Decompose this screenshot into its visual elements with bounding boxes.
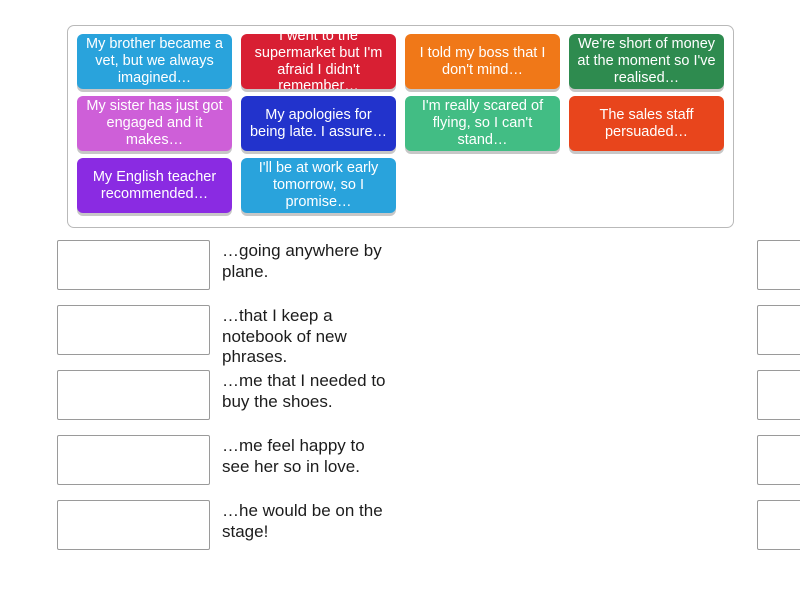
draggable-tile[interactable]: My brother became a vet, but we always i… (77, 34, 232, 89)
answer-row: …me feel happy to see her so in love. (57, 435, 388, 485)
tile-label: My brother became a vet, but we always i… (82, 36, 227, 87)
drop-zone[interactable] (757, 435, 800, 485)
drop-zone[interactable] (57, 305, 210, 355)
draggable-tile[interactable]: I'm really scared of flying, so I can't … (405, 96, 560, 151)
drop-zone[interactable] (757, 370, 800, 420)
drop-zone[interactable] (57, 500, 210, 550)
drop-zone[interactable] (57, 370, 210, 420)
draggable-tile[interactable]: The sales staff persuaded… (569, 96, 724, 151)
drop-zone[interactable] (57, 240, 210, 290)
answer-row: …me that I needed to buy the shoes. (57, 370, 388, 420)
tile-tray: My brother became a vet, but we always i… (67, 25, 734, 228)
tile-label: My English teacher recommended… (82, 169, 227, 203)
drop-zone[interactable] (757, 305, 800, 355)
answer-row: …going anywhere by plane. (57, 240, 388, 290)
draggable-tile[interactable]: My English teacher recommended… (77, 158, 232, 213)
tile-label: We're short of money at the moment so I'… (574, 36, 719, 87)
draggable-tile[interactable]: We're short of money at the moment so I'… (569, 34, 724, 89)
tile-label: My apologies for being late. I assure… (246, 107, 391, 141)
draggable-tile[interactable]: My sister has just got engaged and it ma… (77, 96, 232, 151)
tile-label: I went to the supermarket but I'm afraid… (246, 34, 391, 89)
answer-column-left: …going anywhere by plane. …that I keep a… (0, 240, 400, 585)
answer-area: …going anywhere by plane. …that I keep a… (0, 240, 800, 585)
draggable-tile[interactable]: I'll be at work early tomorrow, so I pro… (241, 158, 396, 213)
tile-label: My sister has just got engaged and it ma… (82, 98, 227, 149)
tile-label: I'm really scared of flying, so I can't … (410, 98, 555, 149)
draggable-tile[interactable]: I told my boss that I don't mind… (405, 34, 560, 89)
tile-label: I'll be at work early tomorrow, so I pro… (246, 160, 391, 211)
tile-label: I told my boss that I don't mind… (410, 45, 555, 79)
answer-column-right: working late as long as I know in advanc… (342, 240, 765, 585)
drop-zone[interactable] (57, 435, 210, 485)
answer-row: …he would be on the stage! (57, 500, 388, 550)
tile-label: The sales staff persuaded… (574, 107, 719, 141)
draggable-tile[interactable]: I went to the supermarket but I'm afraid… (241, 34, 396, 89)
drop-zone[interactable] (757, 240, 800, 290)
tile-grid: My brother became a vet, but we always i… (74, 32, 727, 215)
draggable-tile[interactable]: My apologies for being late. I assure… (241, 96, 396, 151)
answer-row: …that I keep a notebook of new phrases. (57, 305, 388, 355)
drop-zone[interactable] (757, 500, 800, 550)
